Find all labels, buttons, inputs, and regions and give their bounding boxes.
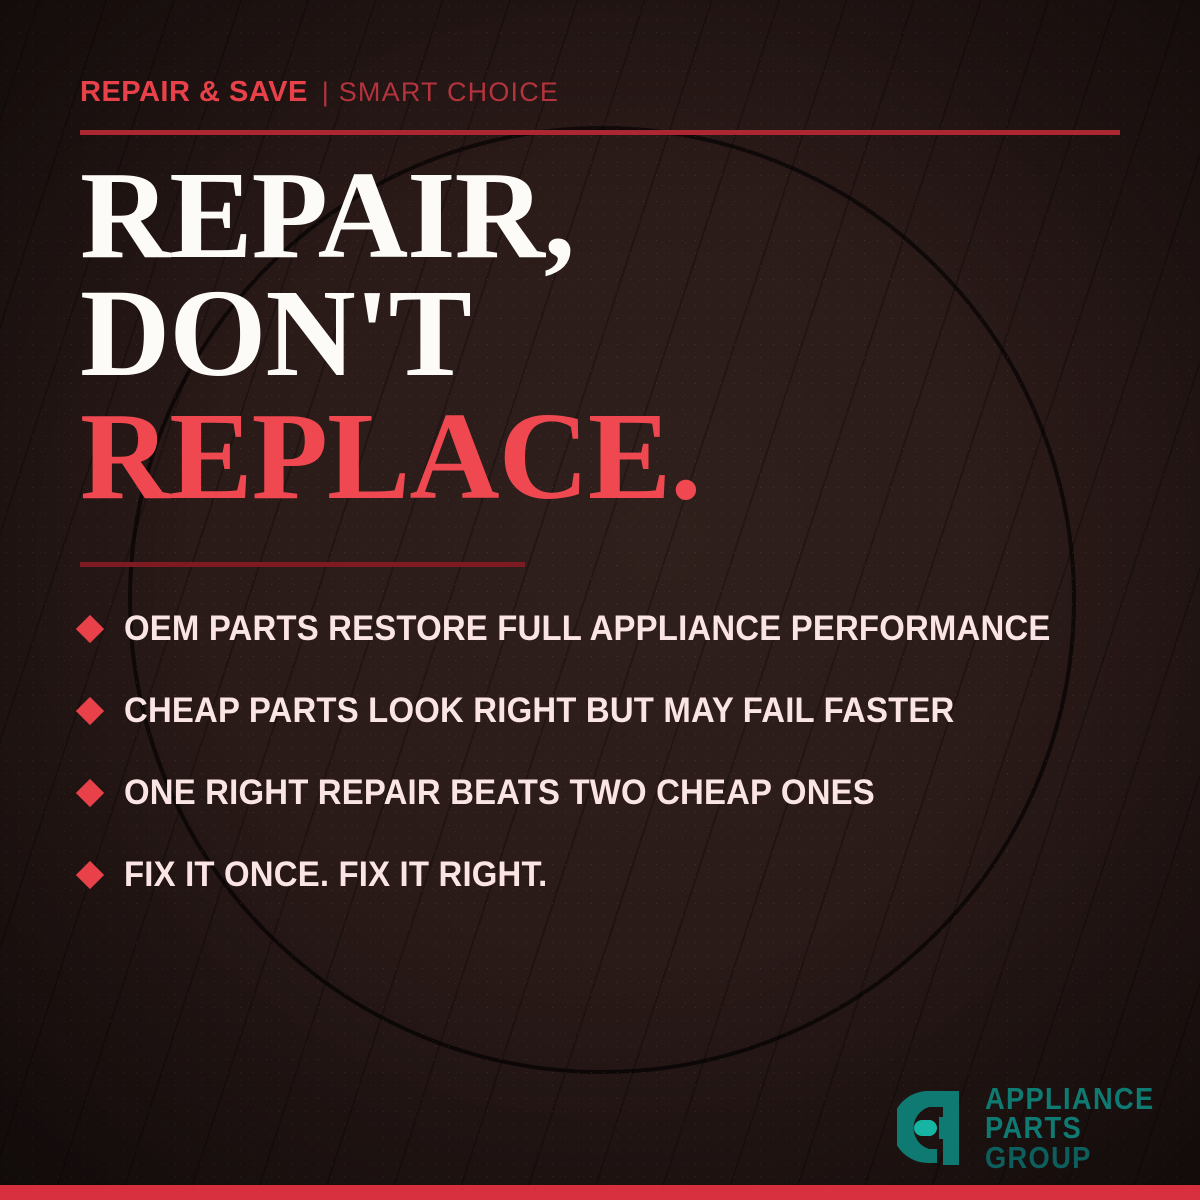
kicker-strong-label: REPAIR & SAVE [80, 76, 308, 109]
brand-wordmark: APPLIANCE PARTS GROUP [985, 1084, 1178, 1172]
headline-line-3: REPLACE. [80, 393, 701, 517]
g-monogram-icon [897, 1089, 973, 1167]
kicker: REPAIR & SAVE | SMART CHOICE [80, 76, 559, 109]
benefit-list: OEM PARTS RESTORE FULL APPLIANCE PERFORM… [80, 588, 1150, 916]
diamond-bullet-icon [76, 861, 104, 889]
diamond-bullet-icon [76, 697, 104, 725]
diamond-bullet-icon [76, 779, 104, 807]
headline-line-2: DON'T [80, 276, 701, 394]
list-item-label: OEM PARTS RESTORE FULL APPLIANCE PERFORM… [124, 609, 1050, 649]
headline-line-1: REPAIR, [80, 158, 701, 276]
headline: REPAIR, DON'T REPLACE. [80, 158, 701, 517]
list-item: OEM PARTS RESTORE FULL APPLIANCE PERFORM… [80, 588, 1150, 670]
list-item: FIX IT ONCE. FIX IT RIGHT. [80, 834, 1150, 916]
bottom-bar-texture [0, 1185, 1200, 1200]
kicker-light-label: | SMART CHOICE [322, 77, 559, 108]
list-item-label: CHEAP PARTS LOOK RIGHT BUT MAY FAIL FAST… [124, 691, 954, 731]
list-item-label: FIX IT ONCE. FIX IT RIGHT. [124, 855, 547, 895]
brand-logo: APPLIANCE PARTS GROUP [897, 1084, 1178, 1172]
brand-word-group: GROUP [985, 1143, 1155, 1172]
list-item: ONE RIGHT REPAIR BEATS TWO CHEAP ONES [80, 752, 1150, 834]
brand-word-appliance: APPLIANCE [985, 1084, 1155, 1113]
bottom-accent-bar [0, 1185, 1200, 1200]
kicker-divider [80, 130, 1120, 135]
headline-divider [80, 562, 525, 567]
diamond-bullet-icon [76, 615, 104, 643]
list-item: CHEAP PARTS LOOK RIGHT BUT MAY FAIL FAST… [80, 670, 1150, 752]
brand-word-parts: PARTS [985, 1113, 1155, 1142]
poster-canvas: REPAIR & SAVE | SMART CHOICE REPAIR, DON… [0, 0, 1200, 1200]
list-item-label: ONE RIGHT REPAIR BEATS TWO CHEAP ONES [124, 773, 875, 813]
